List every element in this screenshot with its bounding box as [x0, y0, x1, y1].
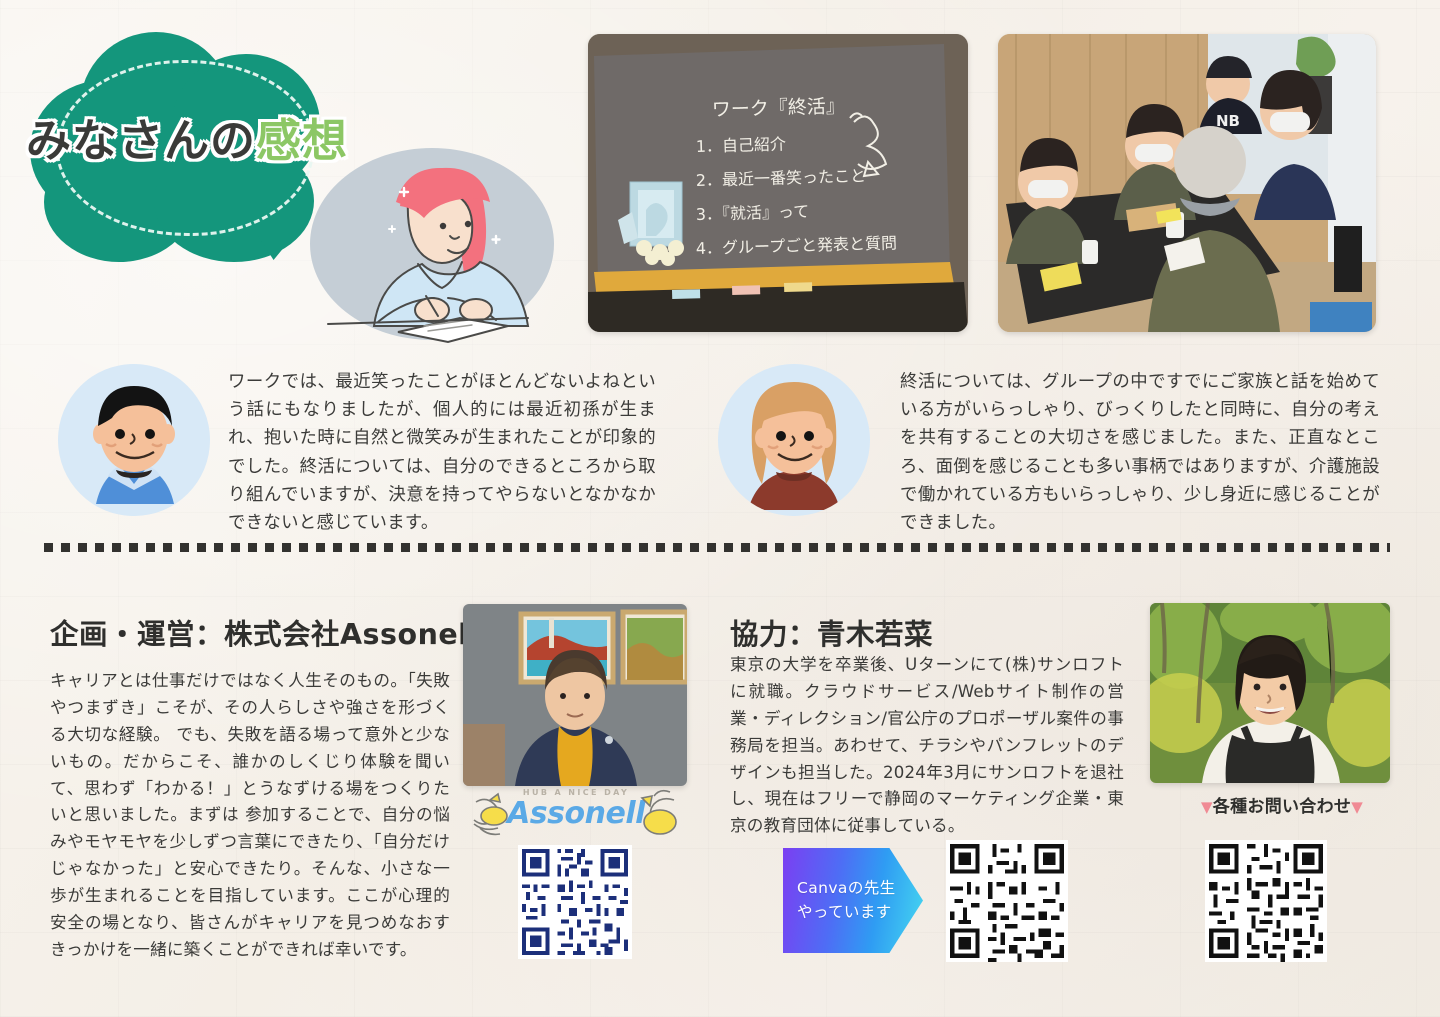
- canva-badge-line2: やっています: [797, 901, 923, 924]
- triangle-left-icon: ▼: [1201, 798, 1213, 816]
- credit-heading-organizer: 企画・運営：株式会社Assonell: [50, 612, 479, 653]
- assonell-logo: HUB A NICE DAY Assonell: [468, 788, 684, 844]
- contact-label: ▼各種お問い合わせ▼: [1172, 792, 1392, 817]
- credit-heading-collaborator: 協力：青木若菜: [730, 612, 933, 653]
- assonell-representative-portrait: [463, 604, 687, 786]
- section-divider: [44, 543, 1390, 552]
- slide-title: ワーク『終活』: [712, 95, 846, 121]
- svg-text:3．『就活』って: 3．『就活』って: [696, 202, 810, 224]
- contact-qr-code[interactable]: [1205, 840, 1327, 962]
- workshop-group-photo: NB: [998, 34, 1376, 332]
- credit-body-organizer: キャリアとは仕事だけではなく人生そのもの。「失敗やつまずき」こそが、その人らしさ…: [50, 668, 450, 964]
- credit-body-collaborator: 東京の大学を卒業後、Uターンにて(株)サンロフトに就職。クラウドサービス/Web…: [730, 652, 1124, 840]
- assonell-qr-code[interactable]: [518, 845, 632, 959]
- woman-writing-illustration: [300, 140, 560, 345]
- workshop-slide-photo: ワーク『終活』 1．自己紹介 2．最近一番笑ったこと 3．『就活』って 4．グル…: [588, 34, 968, 332]
- testimonial-text-1: ワークでは、最近笑ったことがほとんどないよねという話にもなりましたが、個人的には…: [228, 368, 656, 537]
- aoki-wakana-portrait: [1150, 603, 1390, 783]
- canva-lesson-qr-code[interactable]: [946, 840, 1068, 962]
- female-participant-avatar: [718, 364, 870, 516]
- canva-badge-line1: Canvaの先生: [797, 877, 923, 900]
- page-title-part1: みなさんの: [26, 114, 256, 167]
- contact-label-text: 各種お問い合わせ: [1213, 797, 1351, 817]
- testimonial-text-2: 終活については、グループの中ですでにご家族と話を始めている方がいらっしゃり、びっ…: [900, 368, 1380, 537]
- svg-text:NB: NB: [1216, 112, 1240, 130]
- male-participant-avatar: [58, 364, 210, 516]
- svg-text:1．自己紹介: 1．自己紹介: [696, 134, 787, 156]
- triangle-right-icon: ▼: [1351, 798, 1363, 816]
